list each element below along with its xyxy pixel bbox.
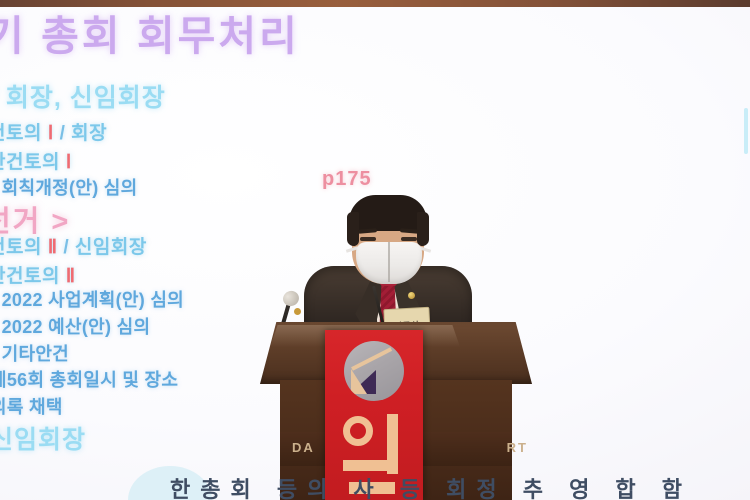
lapel-pin-icon — [408, 292, 415, 299]
right-edge-accent-bar — [744, 108, 748, 154]
speaker-hair-side-right — [417, 212, 429, 246]
slide-page-marker: p175 — [322, 168, 372, 191]
podium-word-right: RT — [507, 440, 528, 455]
slide-line-10: 제56회 총회일시 및 장소 — [0, 366, 178, 392]
slide-bottom-text: 한총회 등의 사 등 회정 추 영 합 함 — [170, 472, 750, 500]
face-mask-center-fold — [388, 242, 390, 282]
slide-line-6: 안건토의 Ⅱ — [0, 261, 76, 288]
roman-numeral: Ⅰ — [48, 123, 54, 144]
roman-numeral: Ⅰ — [66, 152, 72, 173]
slide-line-3: ) 회칙개정(안) 심의 — [0, 174, 138, 200]
slide-line-12: 신임회장 — [0, 420, 86, 456]
slide-line-5: 건토의 Ⅱ / 신임회장 — [0, 232, 147, 259]
conference-photo-scene: 기 총회 회무처리 / 회장, 신임회장건토의 Ⅰ / 회장안건토의 Ⅰ) 회칙… — [0, 0, 750, 500]
podium-word-left: DA — [292, 440, 315, 455]
slide-line-7: ) 2022 사업계획(안) 심의 — [0, 286, 184, 312]
microphone-joint — [294, 308, 301, 315]
slide-title: 기 총회 회무처리 — [0, 2, 300, 62]
speaker-eye-right — [401, 237, 417, 241]
organization-emblem-icon — [344, 341, 404, 401]
slash-separator: / — [60, 123, 66, 144]
speaker-hair-side-left — [347, 212, 359, 246]
speaker-eye-left — [360, 237, 376, 241]
slide-line-11: 의록 채택 — [0, 393, 63, 419]
slash-separator: / — [63, 237, 69, 258]
banner-glyph-circle — [343, 416, 373, 446]
banner-glyph-horizontal-stroke — [343, 460, 387, 471]
roman-numeral: Ⅱ — [48, 237, 58, 258]
roman-numeral: Ⅱ — [66, 266, 76, 287]
slide-line-2: 안건토의 Ⅰ — [0, 147, 72, 174]
slide-line-0: / 회장, 신임회장 — [0, 78, 166, 114]
slide-line-8: ) 2022 예산(안) 심의 — [0, 313, 150, 339]
slide-line-9: ) 기타안건 — [0, 340, 69, 366]
emblem-diagonal-bar — [351, 347, 392, 371]
slide-line-1: 건토의 Ⅰ / 회장 — [0, 118, 107, 145]
banner-glyph-vertical-stroke — [387, 414, 398, 474]
emblem-wedge-tan — [351, 369, 367, 394]
speaker-hair — [349, 195, 427, 231]
